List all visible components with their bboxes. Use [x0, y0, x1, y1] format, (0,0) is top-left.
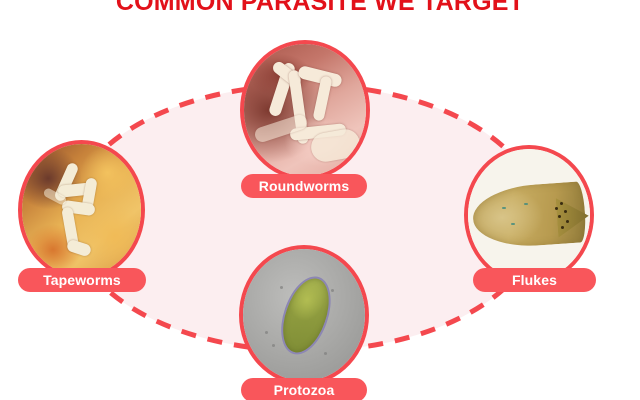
- flukes-circle[interactable]: [464, 145, 594, 285]
- protozoa-label[interactable]: Protozoa: [241, 378, 367, 400]
- flukes-label[interactable]: Flukes: [473, 268, 596, 292]
- tapeworms-label[interactable]: Tapeworms: [18, 268, 146, 292]
- roundworms-label[interactable]: Roundworms: [241, 174, 367, 198]
- flukes-photo: [468, 149, 590, 281]
- protozoa-circle[interactable]: [239, 245, 369, 385]
- protozoa-photo: [243, 249, 365, 381]
- tapeworms-circle[interactable]: [18, 140, 145, 280]
- roundworms-photo: [244, 44, 366, 176]
- parasite-infographic: COMMON PARASITE WE TARGET Roundworms Tap…: [0, 0, 640, 400]
- roundworms-circle[interactable]: [240, 40, 370, 180]
- tapeworms-photo: [22, 144, 141, 276]
